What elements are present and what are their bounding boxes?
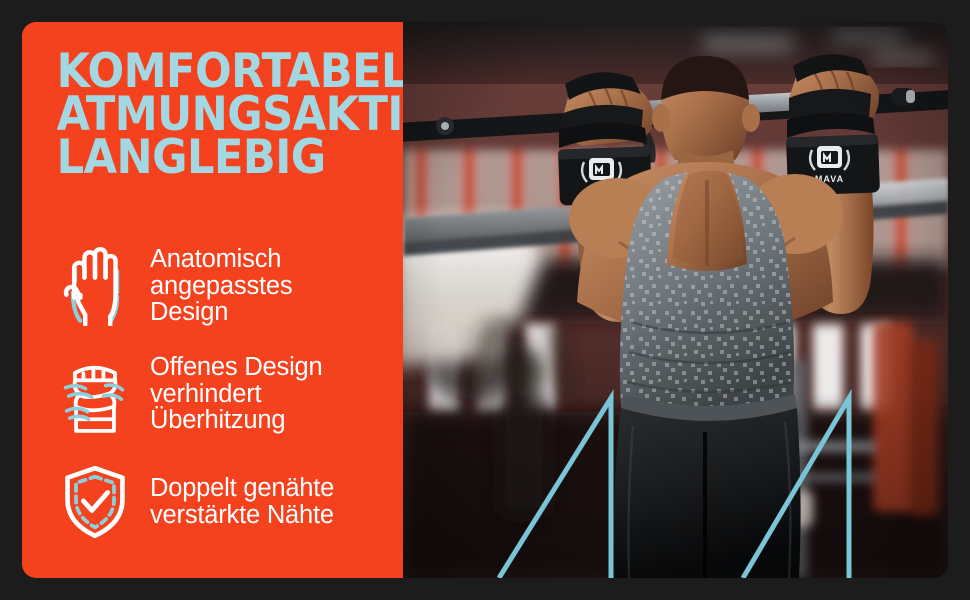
shield-check-stitch-icon	[56, 456, 134, 548]
page-title: KOMFORTABEL ATMUNGSAKTIV LANGLEBIG	[22, 44, 411, 180]
list-item: Offenes Design verhindert Überhitzung	[22, 348, 403, 440]
feature-2-line-1: Offenes Design	[150, 354, 323, 381]
feature-1-line-3: Design	[150, 299, 292, 326]
open-hand-icon	[56, 240, 134, 332]
feature-1-line-2: angepasstes	[150, 273, 292, 300]
product-photo: MAVA	[403, 22, 948, 578]
feature-label: Doppelt genähte verstärkte Nähte	[150, 475, 334, 528]
headline-line-3: LANGLEBIG	[57, 136, 411, 179]
feature-panel: KOMFORTABEL ATMUNGSAKTIV LANGLEBIG	[22, 22, 403, 578]
feature-3-line-1: Doppelt genähte	[150, 475, 334, 502]
list-item: Anatomisch angepasstes Design	[22, 240, 403, 332]
feature-list: Anatomisch angepasstes Design	[22, 240, 403, 564]
list-item: Doppelt genähte verstärkte Nähte	[22, 456, 403, 548]
feature-3-line-2: verstärkte Nähte	[150, 502, 334, 529]
gym-pullup-photo: MAVA	[403, 22, 948, 578]
feature-label: Offenes Design verhindert Überhitzung	[150, 354, 323, 434]
feature-1-line-1: Anatomisch	[150, 246, 292, 273]
product-banner: KOMFORTABEL ATMUNGSAKTIV LANGLEBIG	[22, 22, 948, 578]
wrapped-fist-airflow-icon	[56, 348, 134, 440]
feature-2-line-3: Überhitzung	[150, 407, 323, 434]
feature-2-line-2: verhindert	[150, 381, 323, 408]
feature-label: Anatomisch angepasstes Design	[150, 246, 292, 326]
